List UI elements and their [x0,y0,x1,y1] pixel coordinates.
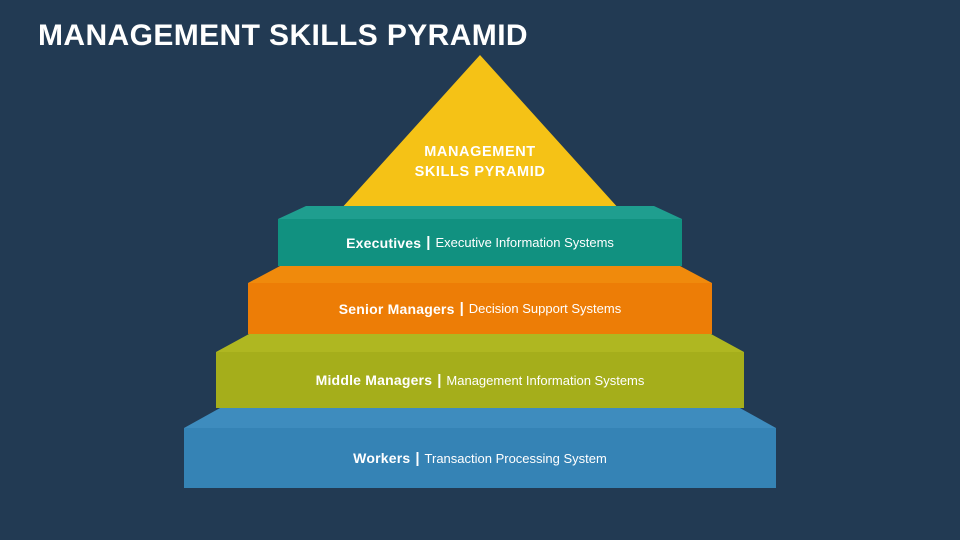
level-face: Workers | Transaction Processing System [184,428,776,488]
level-system-label: Management Information Systems [446,373,644,388]
pyramid-level-executives[interactable]: Executives | Executive Information Syste… [278,206,682,266]
apex-label-line2: SKILLS PYRAMID [340,162,620,182]
level-role-label: Senior Managers [339,301,455,317]
level-top-bevel [248,266,712,283]
level-system-label: Transaction Processing System [425,451,607,466]
level-role-label: Workers [353,450,410,466]
pyramid-level-middle-managers[interactable]: Middle Managers | Management Information… [216,334,744,408]
level-separator: | [437,372,441,389]
level-role-label: Middle Managers [316,372,433,388]
level-system-label: Decision Support Systems [469,301,621,316]
level-system-label: Executive Information Systems [435,235,613,250]
apex-label: MANAGEMENT SKILLS PYRAMID [340,142,620,182]
apex-triangle-shape [340,55,620,210]
pyramid-level-senior-managers[interactable]: Senior Managers | Decision Support Syste… [248,266,712,334]
level-role-label: Executives [346,235,421,251]
level-face: Middle Managers | Management Information… [216,352,744,408]
pyramid-level-workers[interactable]: Workers | Transaction Processing System [184,408,776,488]
level-top-bevel [278,206,682,219]
pyramid-apex[interactable]: MANAGEMENT SKILLS PYRAMID [340,55,620,210]
level-top-bevel [216,334,744,352]
apex-label-line1: MANAGEMENT [340,142,620,162]
level-top-bevel [184,408,776,428]
level-face: Senior Managers | Decision Support Syste… [248,283,712,334]
level-separator: | [460,300,464,317]
pyramid-diagram: MANAGEMENT SKILLS PYRAMID Executives | E… [0,0,960,540]
level-face: Executives | Executive Information Syste… [278,219,682,266]
slide-canvas: MANAGEMENT SKILLS PYRAMID MANAGEMENT SKI… [0,0,960,540]
level-separator: | [426,234,430,251]
level-separator: | [415,450,419,467]
